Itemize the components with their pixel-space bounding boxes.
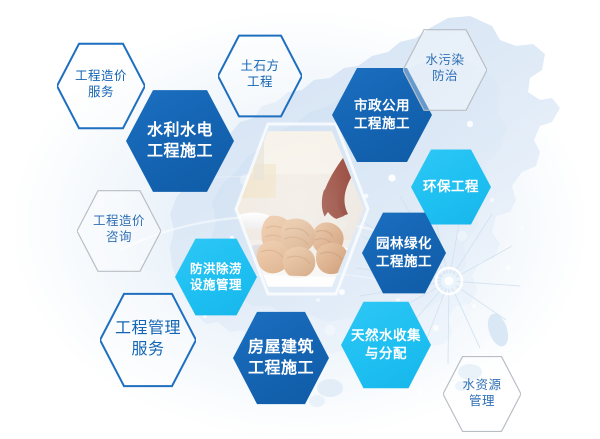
hexagon-label: 防洪除涝 设施管理 — [184, 261, 248, 294]
hexagon-gongcheng-zaojia-zixun[interactable]: 工程造价 咨询 — [77, 189, 161, 269]
hexagon-label: 水利水电 工程施工 — [141, 120, 219, 162]
hexagon-label: 天然水收集 与分配 — [345, 327, 427, 363]
hexagon-label: 房屋建筑 工程施工 — [242, 337, 320, 379]
hexagon-fangwu-jianzhu-gongcheng-shigong[interactable]: 房屋建筑 工程施工 — [233, 310, 329, 406]
hexagon-label: 水污染 防治 — [419, 52, 470, 85]
hexagon-label: 园林绿化 工程施工 — [370, 235, 438, 271]
hexagon-tianranshui-shouji-yu-fenpei[interactable]: 天然水收集 与分配 — [341, 300, 431, 390]
hexagon-gongcheng-guanli-fuwu[interactable]: 工程管理 服务 — [100, 292, 196, 386]
hexagon-label: 环保工程 — [417, 178, 485, 196]
hexagon-label: 土石方 工程 — [234, 58, 285, 91]
hexagon-shuiziyuan-guanli[interactable]: 水资源 管理 — [443, 355, 521, 431]
hexagon-shuiwuran-fangzhi[interactable]: 水污染 防治 — [403, 28, 487, 108]
photo-illustration — [236, 128, 364, 290]
hexagon-label: 工程管理 服务 — [109, 318, 187, 360]
hexagon-capability-diagram: 工程造价 服务土石方 工程水污染 防治水利水电 工程施工市政公用 工程施工环保工… — [0, 0, 600, 439]
teamwork-hands-photo — [236, 128, 364, 290]
hexagon-label: 工程造价 咨询 — [87, 213, 151, 246]
hexagon-tushifang-gongcheng[interactable]: 土石方 工程 — [218, 34, 302, 114]
hexagon-label: 工程造价 服务 — [69, 68, 133, 101]
hexagon-label: 水资源 管理 — [456, 377, 507, 410]
hexagon-gongcheng-zaojia-fuwu[interactable]: 工程造价 服务 — [57, 42, 145, 126]
